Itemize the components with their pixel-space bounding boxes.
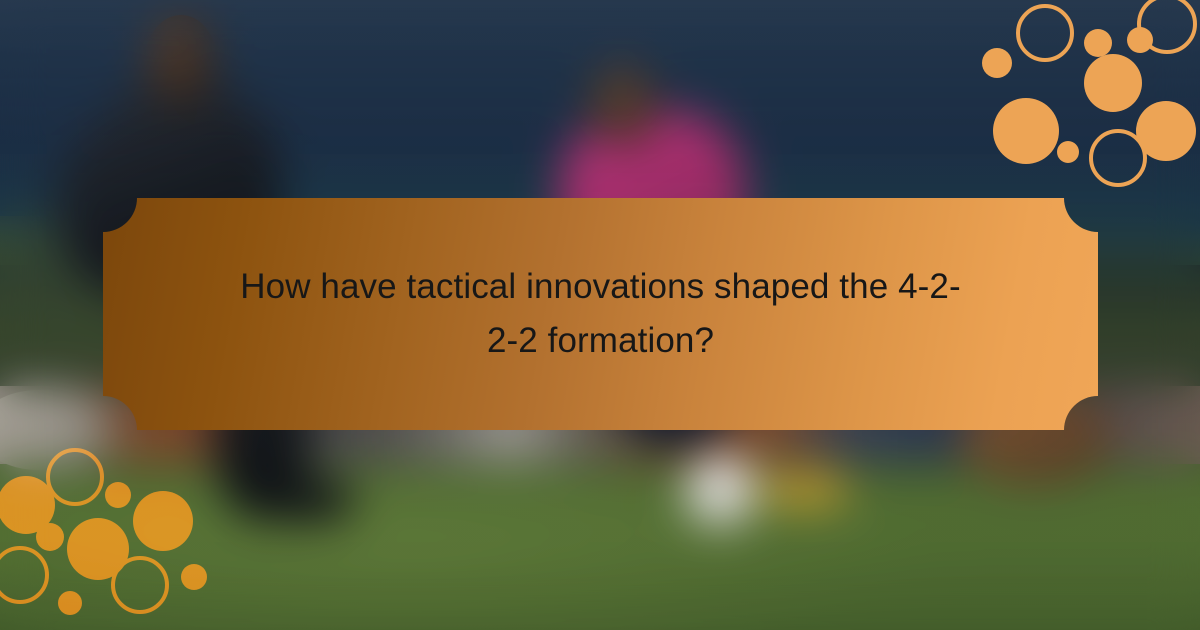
- headline-text: How have tactical innovations shaped the…: [231, 260, 971, 369]
- deco-circle: [0, 548, 47, 602]
- deco-circle: [181, 564, 207, 590]
- circle-cluster-top-right-svg: [970, 0, 1200, 190]
- deco-circle: [982, 48, 1012, 78]
- deco-circle: [105, 482, 131, 508]
- deco-circle: [1091, 131, 1145, 185]
- deco-circle: [113, 558, 167, 612]
- deco-circle: [1136, 101, 1196, 161]
- circle-cluster-bottom-left: [0, 445, 215, 630]
- deco-circle: [1139, 0, 1195, 52]
- deco-circle: [58, 591, 82, 615]
- deco-circle: [133, 491, 193, 551]
- deco-circle: [1057, 141, 1079, 163]
- deco-circle: [67, 518, 129, 580]
- deco-circle: [36, 523, 64, 551]
- circle-cluster-top-right: [970, 0, 1200, 190]
- quote-card-content: How have tactical innovations shaped the…: [103, 198, 1098, 430]
- deco-circle: [993, 98, 1059, 164]
- share-card-canvas: How have tactical innovations shaped the…: [0, 0, 1200, 630]
- deco-circle: [1084, 54, 1142, 112]
- deco-circle: [1018, 6, 1072, 60]
- deco-circle: [48, 450, 102, 504]
- quote-card: How have tactical innovations shaped the…: [103, 198, 1098, 430]
- circle-cluster-bottom-left-svg: [0, 445, 215, 630]
- deco-circle: [1084, 29, 1112, 57]
